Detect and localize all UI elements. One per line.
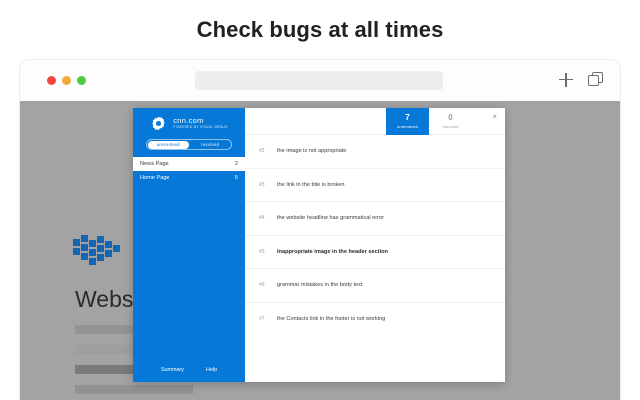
site-logo-icon [73, 231, 129, 271]
status-counter-value: 0 [448, 114, 452, 123]
filter-resolved-option[interactable]: resolved [190, 140, 232, 149]
bug-id: #5 [259, 249, 277, 255]
sidebar-item-page[interactable]: News Page2 [133, 157, 245, 171]
gear-icon[interactable] [150, 115, 167, 132]
status-counter-label: resolved [442, 124, 458, 129]
sidebar-item-count: 2 [235, 161, 238, 167]
bug-list-item[interactable]: #5Inappropriate image in the header sect… [245, 236, 505, 270]
traffic-lights [47, 76, 86, 85]
content-bar [75, 385, 193, 394]
status-counter-label: unresolved [397, 124, 418, 129]
brand-tagline: POWERED BY VISUAL DEBUG [173, 126, 228, 130]
page-title: Check bugs at all times [0, 17, 640, 43]
bug-description: grammar mistakes in the body text [277, 282, 363, 288]
bug-id: #7 [259, 316, 277, 322]
panel-header: 7unresolved0resolved × [245, 108, 505, 135]
close-icon[interactable]: × [492, 113, 497, 121]
sidebar-item-label: News Page [140, 161, 169, 167]
minimize-window-button[interactable] [62, 76, 71, 85]
status-counter[interactable]: 7unresolved [386, 108, 429, 135]
sidebar-item-count: 5 [235, 175, 238, 181]
maximize-window-button[interactable] [77, 76, 86, 85]
brand-name: cnn.com [173, 117, 228, 125]
bug-list-item[interactable]: #4the website headline has grammatical e… [245, 202, 505, 236]
bug-id: #2 [259, 148, 277, 154]
bug-list-item[interactable]: #7the Contacts link in the footer is not… [245, 303, 505, 337]
sidebar-item-label: Home Page [140, 175, 170, 181]
browser-window: Website cnn.com POWERE [20, 60, 620, 400]
page-list: News Page2Home Page5 [133, 157, 245, 185]
browser-toolbar [20, 60, 620, 101]
browser-actions [559, 72, 603, 87]
bug-description: the image is not appropriate [277, 148, 346, 154]
bug-list-item[interactable]: #3the link in the title is broken [245, 169, 505, 203]
status-counters: 7unresolved0resolved [386, 108, 472, 135]
bug-tracker-panel: cnn.com POWERED BY VISUAL DEBUG unresolv… [133, 108, 505, 382]
help-link[interactable]: Help [206, 367, 217, 373]
copy-icon[interactable] [588, 72, 603, 87]
plus-icon[interactable] [559, 73, 573, 87]
bug-description: Inappropriate image in the header sectio… [277, 249, 388, 255]
summary-link[interactable]: Summary [161, 367, 184, 373]
sidebar-item-page[interactable]: Home Page5 [133, 171, 245, 185]
close-window-button[interactable] [47, 76, 56, 85]
bug-list-item[interactable]: #2the image is not appropriate [245, 135, 505, 169]
bug-list-item[interactable]: #6grammar mistakes in the body text [245, 269, 505, 303]
bug-description: the website headline has grammatical err… [277, 215, 384, 221]
panel-main: 7unresolved0resolved × #2the image is no… [245, 108, 505, 382]
status-counter[interactable]: 0resolved [429, 108, 472, 135]
page-root: Check bugs at all times [0, 0, 640, 400]
bug-id: #6 [259, 282, 277, 288]
sidebar-header: cnn.com POWERED BY VISUAL DEBUG unresolv… [133, 108, 245, 150]
bug-id: #3 [259, 182, 277, 188]
bug-id: #4 [259, 215, 277, 221]
brand-block: cnn.com POWERED BY VISUAL DEBUG [133, 115, 245, 132]
brand-text: cnn.com POWERED BY VISUAL DEBUG [173, 117, 228, 129]
address-bar-input[interactable] [195, 71, 443, 90]
bug-list: #2the image is not appropriate#3the link… [245, 135, 505, 336]
resolution-filter-toggle[interactable]: unresolved resolved [146, 139, 232, 150]
sidebar-footer: Summary Help [133, 358, 245, 382]
bug-description: the link in the title is broken [277, 182, 344, 188]
status-counter-value: 7 [405, 114, 409, 123]
filter-unresolved-option[interactable]: unresolved [148, 141, 190, 149]
panel-sidebar: cnn.com POWERED BY VISUAL DEBUG unresolv… [133, 108, 245, 382]
bug-description: the Contacts link in the footer is not w… [277, 316, 385, 322]
